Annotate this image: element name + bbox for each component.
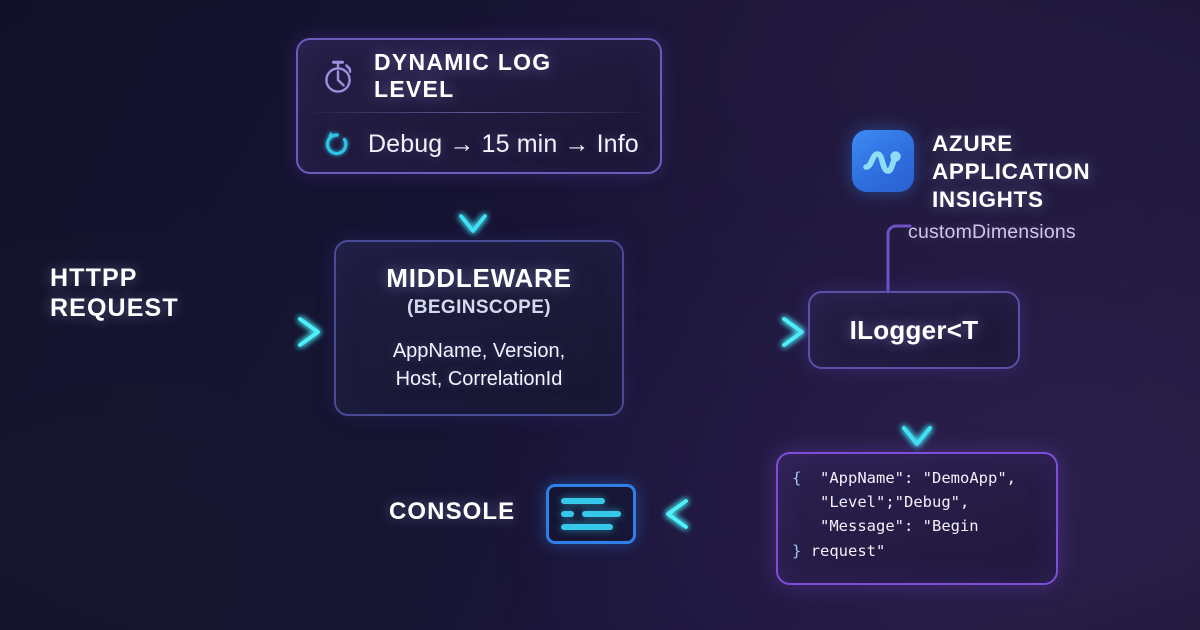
- middleware-fields-line-2: Host, CorrelationId: [393, 365, 565, 393]
- dynamic-log-level-card: DYNAMIC LOG LEVEL Debug → 15 min → Info: [296, 38, 662, 174]
- json-line-4: request": [811, 542, 886, 560]
- arrow-middleware-to-ilogger: [620, 310, 816, 354]
- middleware-box: MIDDLEWARE (BEGINSCOPE) AppName, Version…: [334, 240, 624, 416]
- azure-application-insights-block: AZURE APPLICATION INSIGHTS: [852, 130, 1090, 214]
- console-window-icon: [546, 484, 636, 544]
- console-label: CONSOLE: [389, 498, 515, 526]
- console-icon-line-3: [561, 524, 613, 530]
- refresh-loop-icon: [322, 130, 352, 160]
- middleware-fields-line-1: AppName, Version,: [393, 337, 565, 365]
- json-line-2: "Level";"Debug",: [820, 493, 969, 511]
- arrow-json-to-console: [660, 492, 782, 536]
- middleware-title: MIDDLEWARE: [386, 263, 571, 294]
- custom-dimensions-connector: [880, 224, 940, 296]
- azure-label-line-2: APPLICATION: [932, 158, 1090, 186]
- json-close-brace: }: [792, 542, 801, 560]
- azure-label-line-1: AZURE: [932, 130, 1090, 158]
- dynamic-log-level-header: DYNAMIC LOG LEVEL: [298, 40, 660, 112]
- dynamic-log-level-body: Debug → 15 min → Info: [298, 113, 660, 176]
- azure-application-insights-logo-icon: [852, 130, 914, 192]
- middleware-fields: AppName, Version, Host, CorrelationId: [393, 337, 565, 394]
- json-payload-box: { "AppName": "DemoApp", "Level";"Debug",…: [776, 452, 1058, 585]
- json-line-1: "AppName": "DemoApp",: [820, 469, 1016, 487]
- middleware-subtitle: (BEGINSCOPE): [407, 297, 551, 319]
- arrow-ilogger-to-json: [896, 366, 940, 458]
- console-icon-line-1: [561, 498, 605, 504]
- dynamic-log-level-flow-text: Debug → 15 min → Info: [368, 130, 639, 159]
- azure-label-line-3: INSIGHTS: [932, 186, 1090, 214]
- json-payload-code: { "AppName": "DemoApp", "Level";"Debug",…: [792, 466, 1042, 563]
- console-icon-line-2: [561, 511, 621, 517]
- dynamic-log-level-title: DYNAMIC LOG LEVEL: [374, 49, 636, 103]
- json-open-brace: {: [792, 469, 801, 487]
- http-request-line-1: HTTPP: [50, 263, 179, 293]
- diagram-canvas: DYNAMIC LOG LEVEL Debug → 15 min → Info …: [0, 0, 1200, 630]
- stopwatch-icon: [322, 57, 358, 95]
- arrow-dynamic-to-middleware: [455, 170, 505, 244]
- json-line-3: "Message": "Begin: [820, 517, 979, 535]
- ilogger-label: ILogger<T: [850, 315, 979, 346]
- ilogger-box: ILogger<T: [808, 291, 1020, 369]
- azure-application-insights-label: AZURE APPLICATION INSIGHTS: [932, 130, 1090, 214]
- arrow-http-to-middleware: [92, 310, 332, 354]
